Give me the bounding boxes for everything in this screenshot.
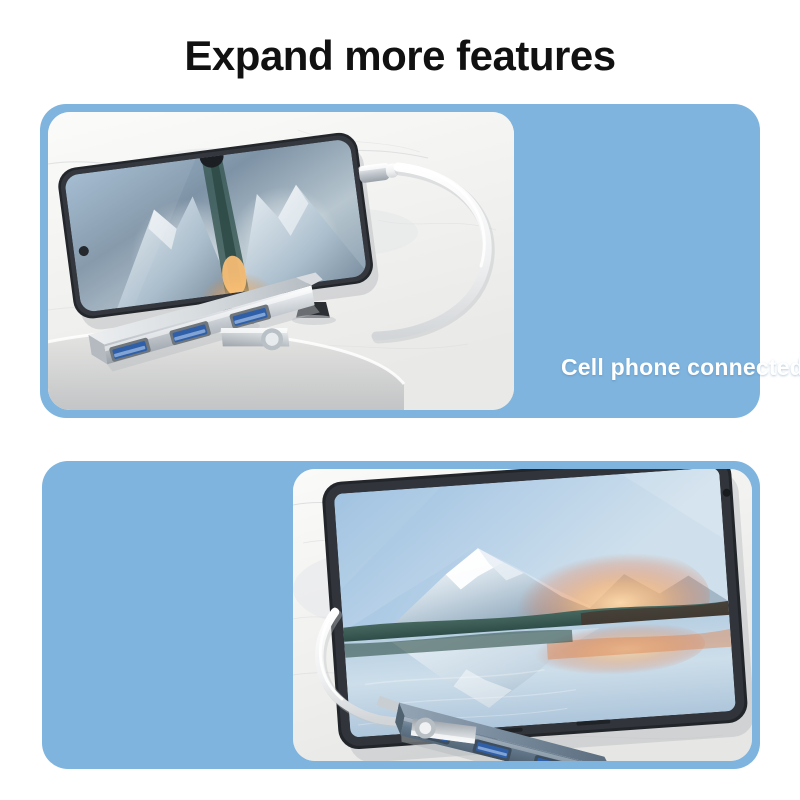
photo-cell-phone-scene bbox=[48, 112, 514, 410]
photo-tablet-scene bbox=[293, 469, 752, 761]
panel-cell-phone: Cell phone connected bbox=[40, 104, 760, 418]
product-feature-graphic: Expand more features bbox=[0, 0, 800, 800]
panel-tablet: Connecting a tablet bbox=[42, 461, 760, 769]
caption-cell-phone-connected: Cell phone connected bbox=[561, 354, 800, 381]
page-title: Expand more features bbox=[0, 33, 800, 79]
